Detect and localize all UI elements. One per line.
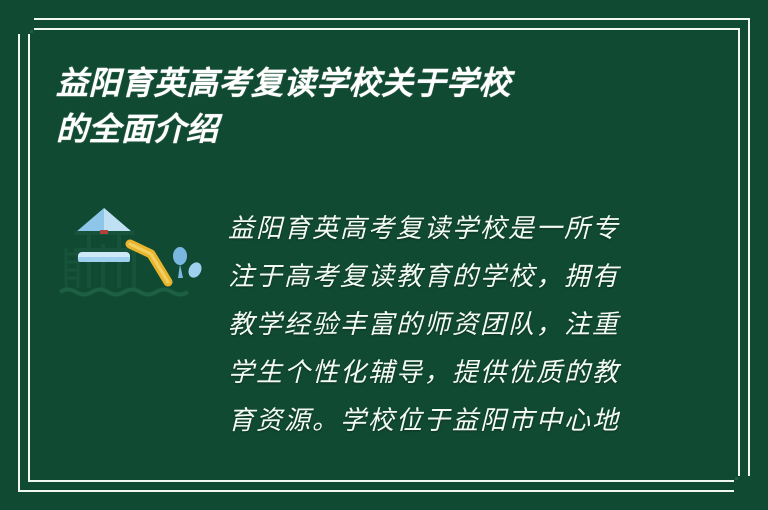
body-line-2: 注于高考复读教育的学校，拥有 [228,253,680,301]
poster-canvas: 益阳育英高考复读学校关于学校 的全面介绍 [0,0,768,510]
body-line-1: 益阳育英高考复读学校是一所专 [228,205,680,253]
page-title: 益阳育英高考复读学校关于学校 的全面介绍 [56,60,676,152]
title-line-1: 益阳育英高考复读学校关于学校 [56,60,676,106]
body-line-5: 育资源。学校位于益阳市中心地 [228,397,680,445]
body-line-4: 学生个性化辅导，提供优质的教 [228,349,680,397]
body-paragraph: 益阳育英高考复读学校是一所专 注于高考复读教育的学校，拥有 教学经验丰富的师资团… [228,205,680,445]
frame-corner-mask-top-left [0,0,34,34]
playground-slide-icon [56,200,206,300]
body-line-3: 教学经验丰富的师资团队，注重 [228,301,680,349]
corner-tick-bottom-right [735,477,738,480]
frame-corner-mask-bottom-right [734,476,768,510]
title-line-2: 的全面介绍 [56,106,676,152]
corner-tick-top-left [30,30,33,33]
